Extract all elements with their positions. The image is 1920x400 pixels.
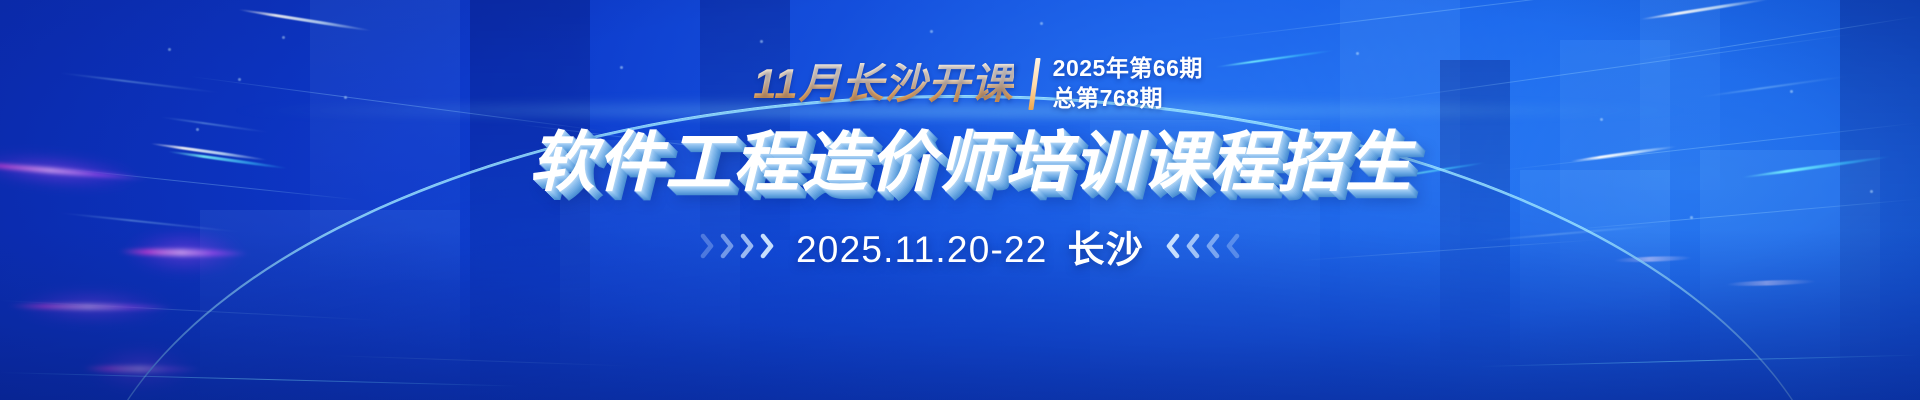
event-date: 2025.11.20-22	[796, 229, 1048, 270]
date-location-row: 2025.11.20-22长沙	[699, 219, 1241, 273]
chevron-right-icon	[719, 231, 736, 261]
chevron-right-icon	[759, 231, 776, 261]
page-title: 软件工程造价师培训课程招生	[529, 128, 1413, 197]
chevron-left-icon	[1164, 231, 1181, 261]
chevron-right-icon	[699, 231, 716, 261]
banner-content: 11月长沙开课 2025年第66期 总第768期 软件工程造价师培训课程招生 2…	[0, 0, 1920, 400]
kicker-row: 11月长沙开课 2025年第66期 总第768期	[753, 56, 1203, 112]
chevron-group-left	[699, 231, 776, 261]
event-date-location: 2025.11.20-22长沙	[796, 219, 1144, 273]
chevron-group-right	[1164, 231, 1241, 261]
issue-year-label: 2025年第66期	[1053, 56, 1203, 82]
chevron-left-icon	[1224, 231, 1241, 261]
kicker-text: 11月长沙开课	[753, 63, 1014, 105]
chevron-left-icon	[1184, 231, 1201, 261]
course-promo-banner: 11月长沙开课 2025年第66期 总第768期 软件工程造价师培训课程招生 2…	[0, 0, 1920, 400]
chevron-right-icon	[739, 231, 756, 261]
event-city: 长沙	[1068, 229, 1144, 270]
issue-info: 2025年第66期 总第768期	[1053, 56, 1203, 112]
issue-total-label: 总第768期	[1053, 86, 1203, 112]
vertical-divider	[1028, 58, 1040, 110]
chevron-left-icon	[1204, 231, 1221, 261]
